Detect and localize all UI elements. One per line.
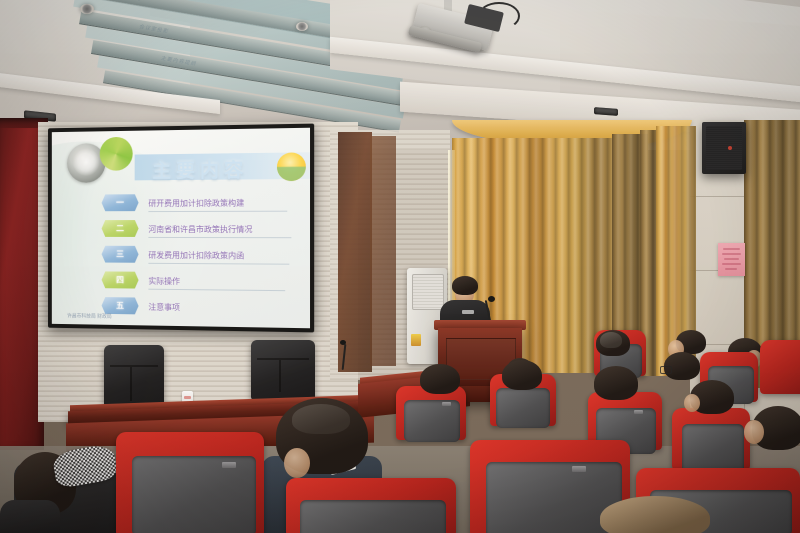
presenter-hair: [452, 276, 478, 295]
sun-hill-icon: [277, 152, 306, 181]
executive-chair-right[interactable]: [251, 340, 315, 400]
audience-face: [684, 394, 700, 412]
slide-item-text: 研发费用加计扣除政策内函: [148, 250, 244, 261]
audience-head: [600, 496, 710, 533]
audience-hair-highlight: [292, 404, 350, 434]
slide-item-row: 五: [102, 297, 139, 314]
conference-room-photo: 反射文字 会议室投影 主要内容提纲: [0, 0, 800, 533]
projection-screen[interactable]: 主要内容 一 研开费用加计扣除政策构建 二 河南省和许昌市政策执行情况 三: [48, 124, 314, 333]
slide-item-rule: [148, 211, 287, 212]
seat-tab: [572, 466, 586, 472]
seat-cushion: [404, 400, 460, 442]
green-leaf-circle: [100, 137, 133, 171]
audience-body: [0, 500, 60, 533]
chair-seam: [130, 367, 132, 401]
microphone-head-icon: [340, 340, 346, 345]
slide-item-row: 一: [102, 194, 139, 211]
audience-head: [502, 360, 542, 390]
slide-footer: 许昌市科技局 财政局: [67, 312, 112, 320]
ac-vent: [412, 274, 444, 310]
poster-text-line: [722, 263, 741, 265]
seat-tab: [442, 402, 451, 406]
poster-text-line: [723, 248, 740, 250]
audience-ear: [284, 448, 310, 478]
seat-cushion: [496, 388, 550, 428]
seat-cushion: [300, 500, 446, 533]
chair-seam: [279, 360, 281, 392]
slide-item-text: 河南省和许昌市政策执行情况: [148, 224, 252, 235]
seat-tab: [222, 462, 236, 468]
slide-item-text: 研开费用加计扣除政策构建: [148, 198, 244, 209]
downlight-icon: [296, 22, 308, 31]
wood-column: [338, 132, 372, 372]
seat-tab: [634, 410, 643, 414]
slide-item-text: 实际操作: [148, 276, 180, 287]
executive-chair-left[interactable]: [104, 345, 164, 407]
slat-reflection-text: 会议室投影: [138, 23, 170, 35]
cup-graphic: [184, 396, 191, 399]
slide-item-badge: 三: [102, 246, 139, 263]
poster-text-line: [725, 268, 737, 270]
slide-item-row: 四: [102, 271, 139, 288]
audience-head: [594, 366, 638, 400]
sun-circle: [277, 152, 306, 181]
slide-item-text: 注意事项: [148, 302, 180, 313]
auditorium-seat[interactable]: [760, 340, 800, 394]
chair-seam: [257, 358, 309, 360]
poster-text-line: [724, 258, 739, 260]
wood-column: [370, 136, 396, 366]
slide-title: 主要内容: [152, 155, 248, 183]
speaker-grille: [706, 126, 742, 170]
chair-seam: [110, 365, 158, 367]
presenter-name-tag: [462, 310, 474, 314]
microphone-head-icon: [488, 296, 495, 302]
audience-face: [744, 420, 764, 444]
poster-text-line: [722, 253, 741, 255]
eyeglasses: [660, 366, 672, 374]
seat-cushion: [132, 456, 256, 533]
wall-speaker: [702, 122, 746, 174]
audience-hair-highlight: [600, 332, 622, 348]
speaker-led-icon: [728, 146, 732, 150]
slide-item-badge: 四: [102, 271, 139, 288]
pink-notice-poster: [718, 243, 745, 276]
seat-cushion: [682, 424, 744, 474]
downlight-icon: [80, 4, 94, 14]
audience-head: [420, 364, 460, 394]
slide-item-row: 二: [102, 220, 139, 237]
projector-cable: [478, 2, 520, 30]
slide-item-row: 三: [102, 246, 139, 263]
slide-item-badge: 五: [102, 297, 139, 314]
energy-label: [411, 334, 421, 346]
slat-reflection-text: 主要内容提纲: [160, 55, 198, 68]
slide-item-badge: 一: [102, 194, 139, 211]
slide-item-badge: 二: [102, 220, 139, 237]
tree-icon: [73, 148, 100, 176]
